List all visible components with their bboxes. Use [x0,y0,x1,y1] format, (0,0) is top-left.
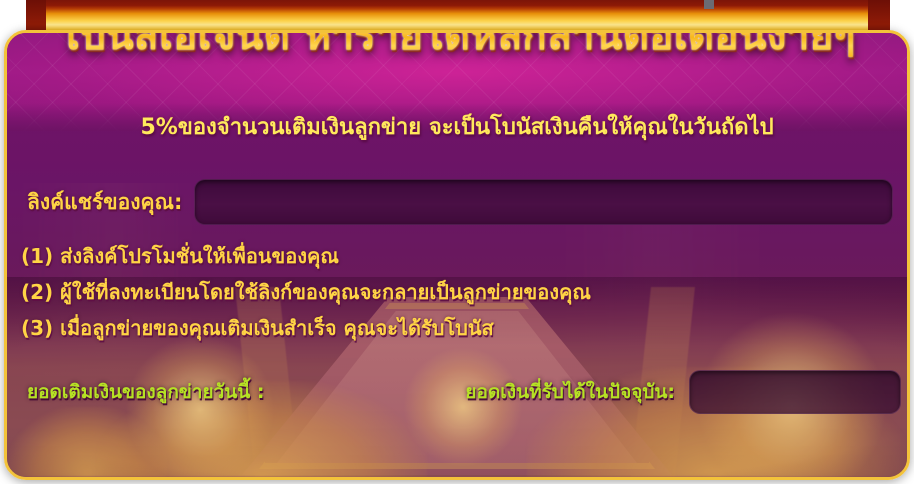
instruction-step-2: (2) ผู้ใช้ที่ลงทะเบียนโดยใช้ลิงก์ของคุณจ… [21,274,901,310]
promo-banner-stage: โบนัสเอเจนต์ หารายได้หลักล้านต่อเดือนง่า… [0,0,914,484]
page-title: โบนัสเอเจนต์ หารายได้หลักล้านต่อเดือนง่า… [7,30,907,63]
share-link-row: ลิงค์แชร์ของคุณ: [27,178,893,226]
ribbon-notch [704,0,714,9]
current-bonus-label: ยอดเงินที่รับได้ในปัจจุบัน: [465,377,675,407]
share-link-input[interactable] [194,179,893,225]
share-link-label: ลิงค์แชร์ของคุณ: [27,186,182,219]
instruction-steps: (1) ส่งลิงค์โปรโมชั่นให้เพื่อนของคุณ (2)… [21,238,901,346]
instruction-step-3: (3) เมื่อลูกข่ายของคุณเติมเงินสำเร็จ คุณ… [21,310,901,346]
instruction-step-1: (1) ส่งลิงค์โปรโมชั่นให้เพื่อนของคุณ [21,238,901,274]
card-content: โบนัสเอเจนต์ หารายได้หลักล้านต่อเดือนง่า… [7,33,907,477]
totals-row: ยอดเติมเงินของลูกข่ายวันนี้ : ยอดเงินที่… [27,369,901,415]
today-topup-label: ยอดเติมเงินของลูกข่ายวันนี้ : [27,377,264,407]
current-bonus-input[interactable] [689,370,901,414]
page-subtitle: 5%ของจำนวนเติมเงินลูกข่าย จะเป็นโบนัสเงิ… [7,109,907,144]
promo-card: โบนัสเอเจนต์ หารายได้หลักล้านต่อเดือนง่า… [4,30,910,480]
